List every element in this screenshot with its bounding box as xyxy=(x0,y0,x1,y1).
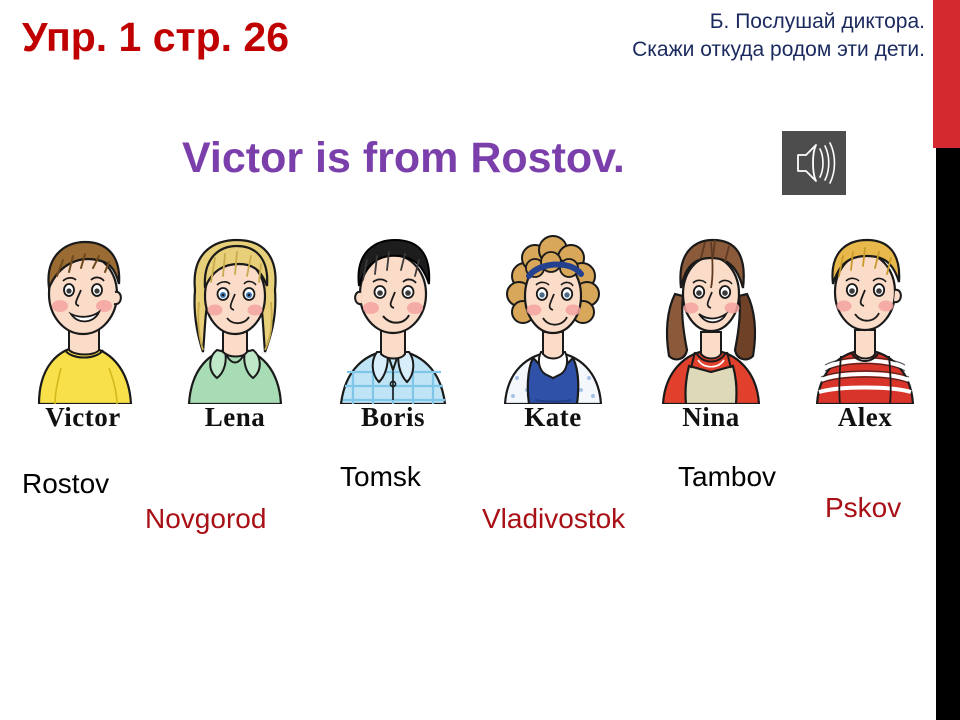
speaker-icon[interactable] xyxy=(782,131,846,195)
portrait-name: Lena xyxy=(160,402,310,433)
portrait-name: Nina xyxy=(636,402,786,433)
portrait-name: Kate xyxy=(478,402,628,433)
alex-illustration xyxy=(795,232,935,404)
city-label-tambov[interactable]: Tambov xyxy=(678,461,776,493)
portrait-nina[interactable]: Nina xyxy=(636,232,786,432)
portrait-lena[interactable]: Lena xyxy=(160,232,310,432)
city-label-tomsk[interactable]: Tomsk xyxy=(340,461,421,493)
instruction-line-1: Б. Послушай диктора. xyxy=(465,8,925,36)
portrait-kate[interactable]: Kate xyxy=(478,232,628,432)
model-sentence: Victor is from Rostov. xyxy=(182,134,625,183)
slide-canvas: Упр. 1 стр. 26 Б. Послушай диктора. Скаж… xyxy=(0,0,960,720)
boris-illustration xyxy=(323,232,463,404)
city-label-pskov[interactable]: Pskov xyxy=(825,492,901,524)
instruction-text: Б. Послушай диктора. Скажи откуда родом … xyxy=(465,8,925,65)
portrait-name: Victor xyxy=(8,402,158,433)
portrait-alex[interactable]: Alex xyxy=(790,232,940,432)
portrait-victor[interactable]: Victor xyxy=(8,232,158,432)
city-label-novgorod[interactable]: Novgorod xyxy=(145,503,266,535)
portrait-row: Victor xyxy=(0,232,933,432)
nina-illustration xyxy=(641,232,781,404)
portrait-name: Alex xyxy=(790,402,940,433)
kate-illustration xyxy=(483,232,623,404)
instruction-line-2: Скажи откуда родом эти дети. xyxy=(465,36,925,64)
victor-illustration xyxy=(13,232,153,404)
portrait-boris[interactable]: Boris xyxy=(318,232,468,432)
city-label-rostov[interactable]: Rostov xyxy=(22,468,109,500)
exercise-title: Упр. 1 стр. 26 xyxy=(22,14,289,61)
portrait-name: Boris xyxy=(318,402,468,433)
right-edge-red-bar xyxy=(933,0,960,148)
lena-illustration xyxy=(165,232,305,404)
city-label-vladivostok[interactable]: Vladivostok xyxy=(482,503,625,535)
